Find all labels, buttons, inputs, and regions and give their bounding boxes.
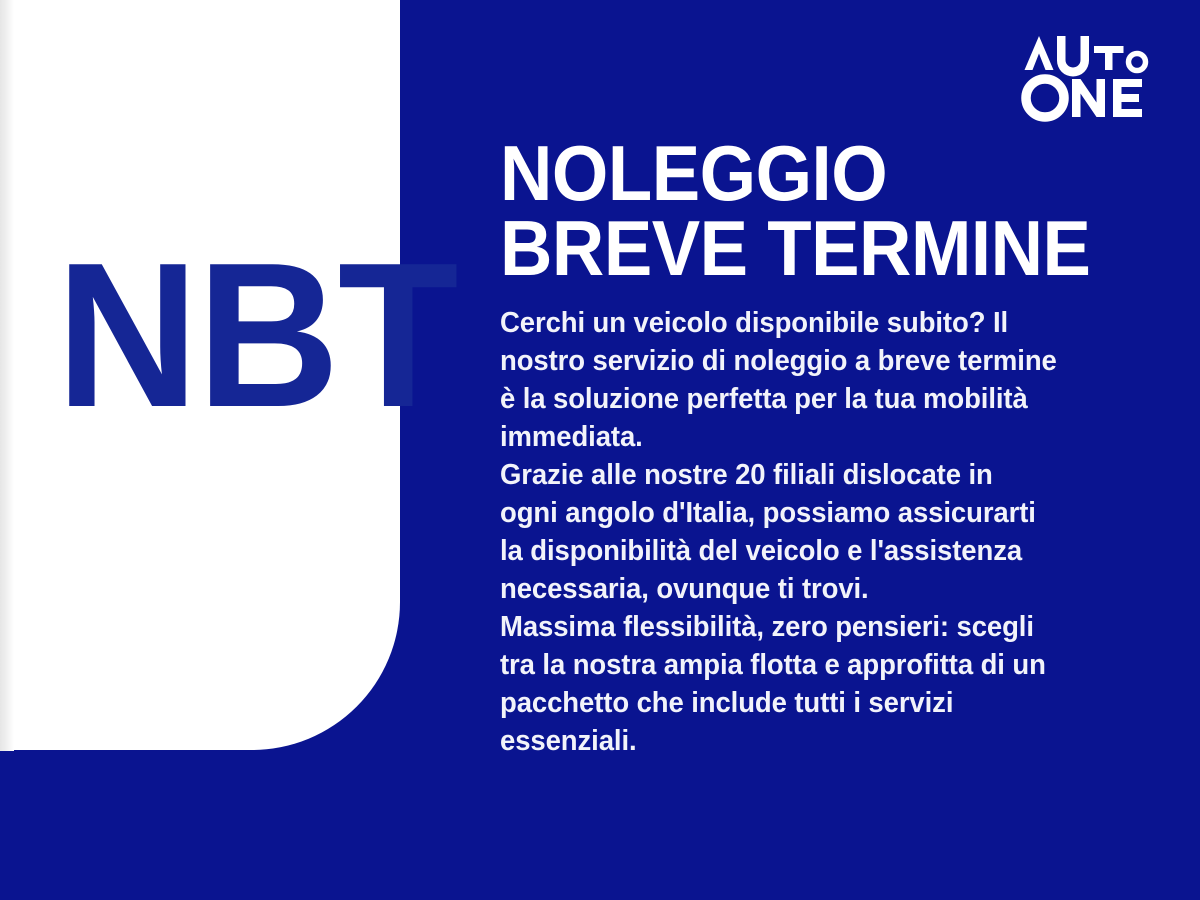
body-line: nostro servizio di noleggio a breve term… xyxy=(500,345,1057,377)
body-line: Grazie alle nostre 20 filiali dislocate … xyxy=(500,459,993,491)
body-line: Massima flessibilità, zero pensieri: sce… xyxy=(500,611,1034,643)
logo-letter-a xyxy=(1025,36,1054,70)
body-line: pacchetto che include tutti i servizi xyxy=(500,687,953,719)
page-title: NOLEGGIO BREVE TERMINE xyxy=(500,136,1105,286)
logo-letter-e xyxy=(1113,79,1142,117)
logo-letter-o-ring xyxy=(1026,79,1064,117)
body-line: la disponibilità del veicolo e l'assiste… xyxy=(500,535,1022,567)
body-line: Cerchi un veicolo disponibile subito? Il xyxy=(500,307,1008,339)
paragraph-2: Grazie alle nostre 20 filiali dislocate … xyxy=(500,456,1127,608)
content-column: NOLEGGIO BREVE TERMINE Cerchi un veicolo… xyxy=(500,136,1150,760)
body-line: necessaria, ovunque ti trovi. xyxy=(500,573,869,605)
paragraph-1: Cerchi un veicolo disponibile subito? Il… xyxy=(500,304,1127,456)
body-line: immediata. xyxy=(500,421,643,453)
paragraph-3: Massima flessibilità, zero pensieri: sce… xyxy=(500,608,1127,760)
auto-one-logo xyxy=(1018,30,1168,122)
body-line: ogni angolo d'Italia, possiamo assicurar… xyxy=(500,497,1036,529)
headline-line-2: BREVE TERMINE xyxy=(500,211,1105,286)
body-line: tra la nostra ampia flotta e approfitta … xyxy=(500,649,1046,681)
nbt-abbreviation: NBT xyxy=(56,232,457,438)
headline-line-1: NOLEGGIO xyxy=(500,136,1105,211)
logo-letter-u xyxy=(1057,36,1089,77)
promo-banner: NBT NOLEGGIO BREVE TERMINE xyxy=(0,0,1200,900)
logo-letter-n xyxy=(1072,79,1105,117)
logo-letter-t xyxy=(1094,46,1124,70)
body-line: essenziali. xyxy=(500,725,637,757)
body-line: è la soluzione perfetta per la tua mobil… xyxy=(500,383,1028,415)
body-copy: Cerchi un veicolo disponibile subito? Il… xyxy=(500,304,1127,760)
logo-letter-o-small xyxy=(1129,54,1146,71)
